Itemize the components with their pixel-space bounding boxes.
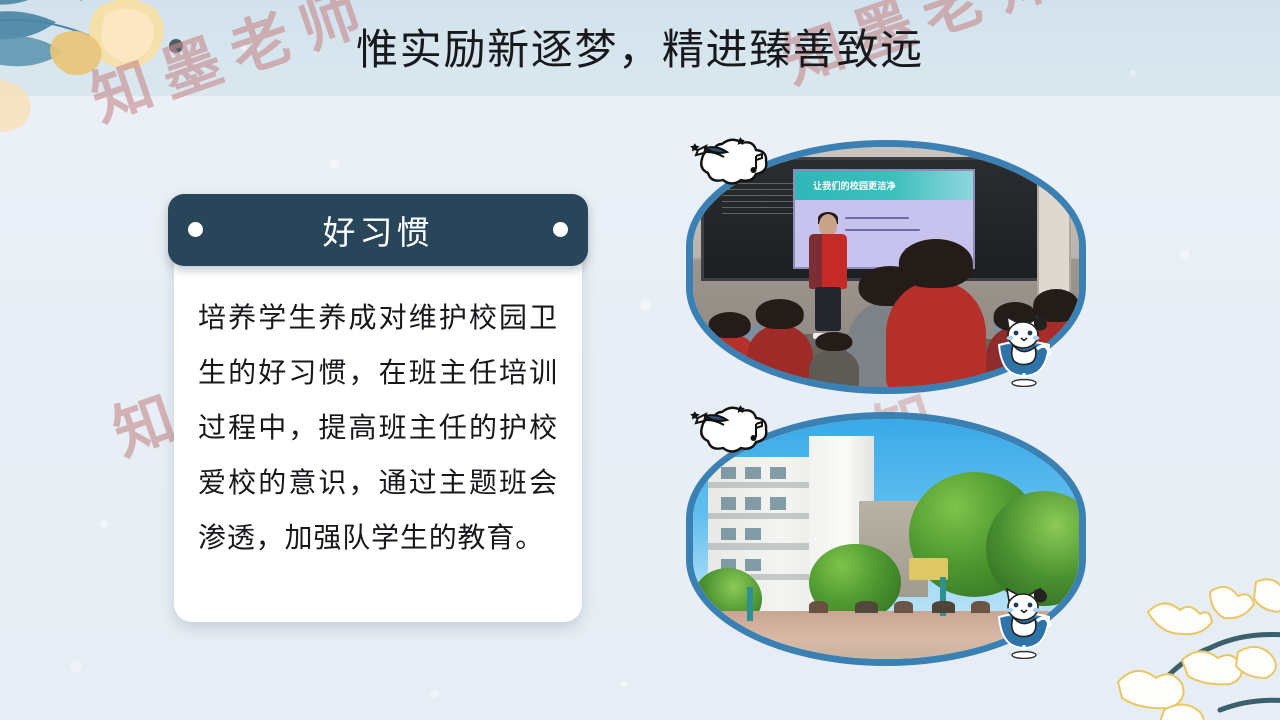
cloud-music-note-icon xyxy=(688,136,774,198)
student-head xyxy=(899,239,973,288)
campus-people xyxy=(855,601,878,613)
content-card: 培养学生养成对维护校园卫生的好习惯，在班主任培训过程中，提高班主任的护校爱校的意… xyxy=(168,194,588,622)
building-window xyxy=(745,528,760,540)
student-figure xyxy=(747,325,813,387)
slide-title-bar: 让我们的校园更洁净 xyxy=(795,171,972,200)
card-body-text: 培养学生养成对维护校园卫生的好习惯，在班主任培训过程中，提高班主任的护校爱校的意… xyxy=(198,292,558,566)
campus-pole xyxy=(747,587,753,621)
page-title: 惟实励新逐梦，精进臻善致远 xyxy=(0,16,1280,77)
student-head xyxy=(708,312,751,337)
campus-people xyxy=(932,601,955,613)
campus-people xyxy=(809,601,828,613)
student-head xyxy=(756,299,805,329)
card-header: 好习惯 xyxy=(168,194,588,266)
building-window xyxy=(770,497,785,509)
campus-people xyxy=(971,601,990,613)
building-window xyxy=(745,467,760,479)
building-window xyxy=(721,497,736,509)
building-window xyxy=(745,497,760,509)
cloud-music-note-icon xyxy=(688,404,774,466)
header-dot-right-icon xyxy=(553,222,568,237)
building-window xyxy=(721,528,736,540)
slide-root: 知墨老师 知墨老师 知墨老师 知墨老师 惟实励新逐梦，精进臻善致远 培养学生养成… xyxy=(0,0,1280,720)
slide-body-line xyxy=(845,229,920,231)
student-figure xyxy=(809,349,859,387)
header-dot-left-icon xyxy=(188,222,203,237)
card-body: 培养学生养成对维护校园卫生的好习惯，在班主任培训过程中，提高班主任的护校爱校的意… xyxy=(174,246,582,622)
building-window xyxy=(770,467,785,479)
slide-title-text: 让我们的校园更洁净 xyxy=(795,179,895,192)
slide-body-line xyxy=(845,217,909,219)
building-window xyxy=(721,467,736,479)
cat-in-cup-icon xyxy=(991,577,1057,659)
teacher-pants xyxy=(815,287,841,332)
teacher-figure xyxy=(809,214,848,339)
student-figure xyxy=(886,281,986,387)
magnolia-corner-bottom-right-icon xyxy=(1060,552,1280,720)
teacher-jacket-shade xyxy=(809,234,822,289)
building-window xyxy=(745,559,760,571)
student-head xyxy=(815,332,852,351)
cat-in-cup-icon xyxy=(991,305,1057,387)
card-header-title: 好习惯 xyxy=(323,206,434,254)
campus-people xyxy=(894,601,913,613)
